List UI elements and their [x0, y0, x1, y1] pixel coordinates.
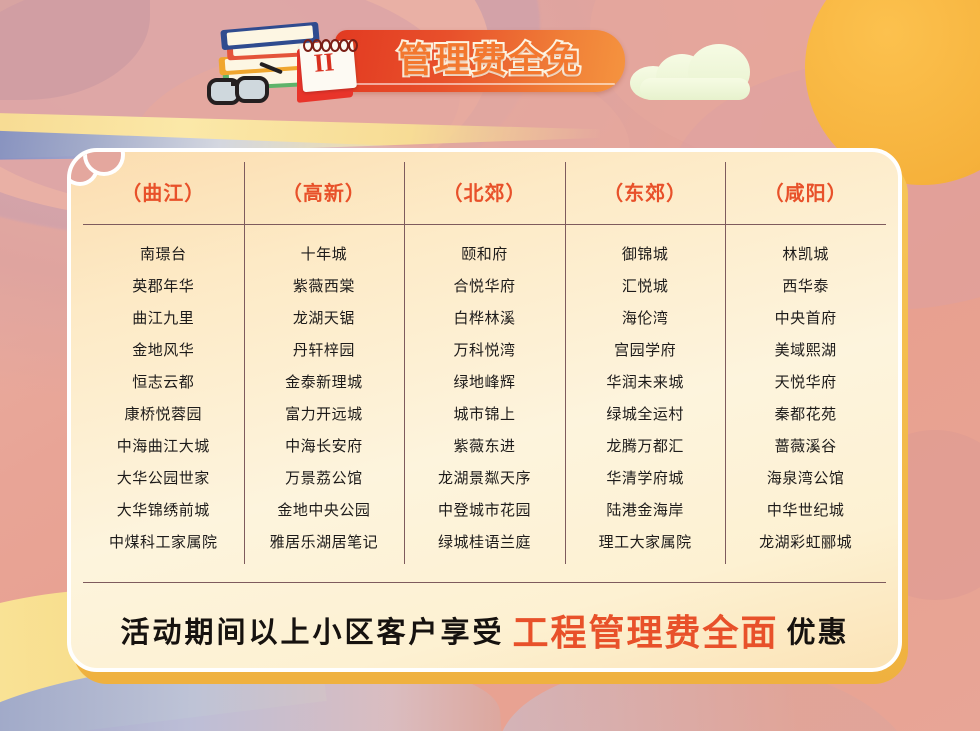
table-cell: 林凯城	[782, 238, 829, 270]
table-cell: 十年城	[301, 238, 348, 270]
table-cell: 城市锦上	[453, 398, 515, 430]
table-cell: 宫园学府	[614, 334, 676, 366]
table-cell: 白桦林溪	[453, 302, 515, 334]
table-cell: 龙湖彩虹郦城	[759, 526, 852, 558]
table-cell: 中海长安府	[285, 430, 363, 462]
table-cell: 富力开远城	[285, 398, 363, 430]
table-cell: 金地风华	[132, 334, 194, 366]
banner-header: II 管理费全免	[205, 22, 625, 100]
table-cell: 陆港金海岸	[606, 494, 684, 526]
eyeglasses-icon-lens2	[235, 76, 269, 103]
table-cell: 中登城市花园	[438, 494, 531, 526]
table-cell: 紫薇东进	[453, 430, 515, 462]
column-header: （咸阳）	[764, 162, 848, 224]
table-cell: 中华世纪城	[767, 494, 845, 526]
column-header: （高新）	[282, 162, 366, 224]
cloud-icon	[630, 44, 760, 96]
table-cell: 中海曲江大城	[117, 430, 210, 462]
table-cell: 西华泰	[782, 270, 829, 302]
table-cell: 御锦城	[622, 238, 669, 270]
column-header-rule	[565, 224, 726, 225]
table-cell: 海伦湾	[622, 302, 669, 334]
table-grid: （曲江）南璟台英郡年华曲江九里金地风华恒志云都康桥悦蓉园中海曲江大城大华公园世家…	[71, 152, 898, 572]
calendar-rings	[303, 39, 355, 49]
table-cell: 金泰新理城	[285, 366, 363, 398]
column-header-rule	[404, 224, 565, 225]
table-cell: 华清学府城	[606, 462, 684, 494]
table-cell: 紫薇西棠	[293, 270, 355, 302]
table-cell: 美域熙湖	[775, 334, 837, 366]
table-cell: 英郡年华	[132, 270, 194, 302]
banner-title: 管理费全免	[365, 36, 615, 86]
table-cell: 汇悦城	[622, 270, 669, 302]
table-cell: 天悦华府	[775, 366, 837, 398]
table-cell: 秦都花苑	[775, 398, 837, 430]
table-cell: 万科悦湾	[453, 334, 515, 366]
table-cell: 龙湖天锯	[293, 302, 355, 334]
promo-card: （曲江）南璟台英郡年华曲江九里金地风华恒志云都康桥悦蓉园中海曲江大城大华公园世家…	[67, 148, 902, 672]
column-body: 林凯城西华泰中央首府美域熙湖天悦华府秦都花苑蔷薇溪谷海泉湾公馆中华世纪城龙湖彩虹…	[725, 238, 886, 558]
table-cell: 万景荔公馆	[285, 462, 363, 494]
table-cell: 丹轩梓园	[293, 334, 355, 366]
table-cell: 中央首府	[775, 302, 837, 334]
table-bottom-rule	[83, 582, 886, 583]
column-header-rule	[83, 224, 244, 225]
table-column-4: （东郊）御锦城汇悦城海伦湾宫园学府华润未来城绿城全运村龙腾万都汇华清学府城陆港金…	[565, 162, 726, 572]
table-cell: 龙腾万都汇	[606, 430, 684, 462]
table-cell: 理工大家属院	[599, 526, 692, 558]
table-cell: 合悦华府	[453, 270, 515, 302]
footer-note: 活动期间以上小区客户享受 工程管理费全面 优惠	[71, 592, 898, 668]
footer-highlight-text: 工程管理费全面	[512, 604, 778, 656]
table-column-3: （北郊）颐和府合悦华府白桦林溪万科悦湾绿地峰辉城市锦上紫薇东进龙湖景粼天序中登城…	[404, 162, 565, 572]
table-cell: 龙湖景粼天序	[438, 462, 531, 494]
column-body: 十年城紫薇西棠龙湖天锯丹轩梓园金泰新理城富力开远城中海长安府万景荔公馆金地中央公…	[244, 238, 405, 558]
table-cell: 康桥悦蓉园	[125, 398, 203, 430]
footer-tail-text: 优惠	[787, 609, 849, 651]
table-cell: 绿城桂语兰庭	[438, 526, 531, 558]
desk-calendar-icon: II	[297, 40, 359, 102]
table-cell: 曲江九里	[132, 302, 194, 334]
table-cell: 恒志云都	[132, 366, 194, 398]
table-cell: 蔷薇溪谷	[775, 430, 837, 462]
eyeglasses-bridge	[231, 82, 239, 86]
column-header-rule	[244, 224, 405, 225]
table-cell: 金地中央公园	[277, 494, 370, 526]
table-cell: 海泉湾公馆	[767, 462, 845, 494]
table-cell: 华润未来城	[606, 366, 684, 398]
column-header-rule	[725, 224, 886, 225]
table-cell: 绿城全运村	[606, 398, 684, 430]
table-cell: 南璟台	[140, 238, 187, 270]
column-header: （曲江）	[121, 162, 205, 224]
table-column-2: （高新）十年城紫薇西棠龙湖天锯丹轩梓园金泰新理城富力开远城中海长安府万景荔公馆金…	[244, 162, 405, 572]
table-cell: 雅居乐湖居笔记	[270, 526, 379, 558]
column-body: 御锦城汇悦城海伦湾宫园学府华润未来城绿城全运村龙腾万都汇华清学府城陆港金海岸理工…	[565, 238, 726, 558]
table-cell: 颐和府	[461, 238, 508, 270]
footer-lead-text: 活动期间以上小区客户享受	[120, 609, 504, 651]
table-cell: 绿地峰辉	[453, 366, 515, 398]
column-header: （东郊）	[603, 162, 687, 224]
column-header: （北郊）	[442, 162, 526, 224]
table-cell: 中煤科工家属院	[109, 526, 218, 558]
column-body: 颐和府合悦华府白桦林溪万科悦湾绿地峰辉城市锦上紫薇东进龙湖景粼天序中登城市花园绿…	[404, 238, 565, 558]
table-column-5: （咸阳）林凯城西华泰中央首府美域熙湖天悦华府秦都花苑蔷薇溪谷海泉湾公馆中华世纪城…	[725, 162, 886, 572]
column-body: 南璟台英郡年华曲江九里金地风华恒志云都康桥悦蓉园中海曲江大城大华公园世家大华锦绣…	[83, 238, 244, 558]
table-column-1: （曲江）南璟台英郡年华曲江九里金地风华恒志云都康桥悦蓉园中海曲江大城大华公园世家…	[83, 162, 244, 572]
table-cell: 大华公园世家	[117, 462, 210, 494]
community-table: （曲江）南璟台英郡年华曲江九里金地风华恒志云都康桥悦蓉园中海曲江大城大华公园世家…	[71, 152, 898, 668]
table-cell: 大华锦绣前城	[117, 494, 210, 526]
